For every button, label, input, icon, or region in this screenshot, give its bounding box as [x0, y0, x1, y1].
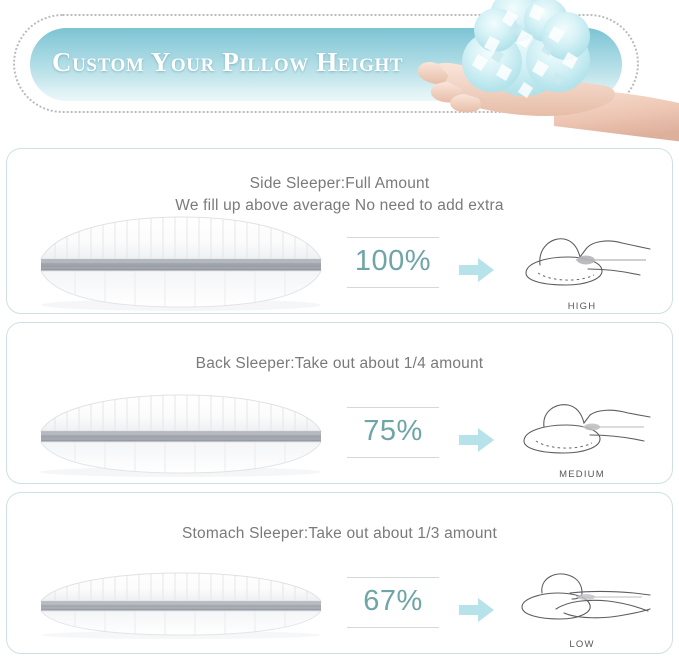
panel-side-sleeper: Side Sleeper:Full Amount We fill up abov…: [6, 148, 673, 314]
panel-heading-secondary: We fill up above average No need to add …: [7, 197, 672, 215]
panel-stomach-sleeper: Stomach Sleeper:Take out about 1/3 amoun…: [6, 492, 673, 654]
loft-label: LOW: [512, 639, 652, 650]
page-title: Custom Your Pillow Height: [52, 47, 403, 78]
percent-value: 100%: [347, 238, 439, 287]
percent-badge-low: 67%: [347, 577, 439, 628]
loft-label: HIGH: [512, 301, 652, 312]
rule-bottom: [347, 627, 439, 628]
percent-badge-high: 100%: [347, 237, 439, 288]
arrow-right-icon: [459, 427, 495, 458]
head-diagram-high: HIGH: [512, 225, 652, 312]
panel-back-sleeper: Back Sleeper:Take out about 1/4 amount: [6, 322, 673, 484]
pillow-image-low: [25, 563, 337, 648]
head-diagram-low: LOW: [512, 567, 652, 650]
arrow-right-icon: [459, 597, 495, 628]
pillow-image-medium: [25, 389, 337, 484]
percent-value: 67%: [347, 578, 439, 627]
pillow-image-high: [25, 215, 337, 316]
percent-badge-medium: 75%: [347, 407, 439, 458]
panel-heading-primary: Stomach Sleeper:Take out about 1/3 amoun…: [7, 525, 672, 543]
panel-heading-primary: Side Sleeper:Full Amount: [7, 175, 672, 193]
rule-bottom: [347, 287, 439, 288]
head-diagram-medium: MEDIUM: [512, 397, 652, 480]
panel-heading-primary: Back Sleeper:Take out about 1/4 amount: [7, 355, 672, 373]
loft-label: MEDIUM: [512, 469, 652, 480]
arrow-right-icon: [459, 257, 495, 288]
percent-value: 75%: [347, 408, 439, 457]
header-banner: Custom Your Pillow Height: [0, 0, 679, 140]
rule-bottom: [347, 457, 439, 458]
